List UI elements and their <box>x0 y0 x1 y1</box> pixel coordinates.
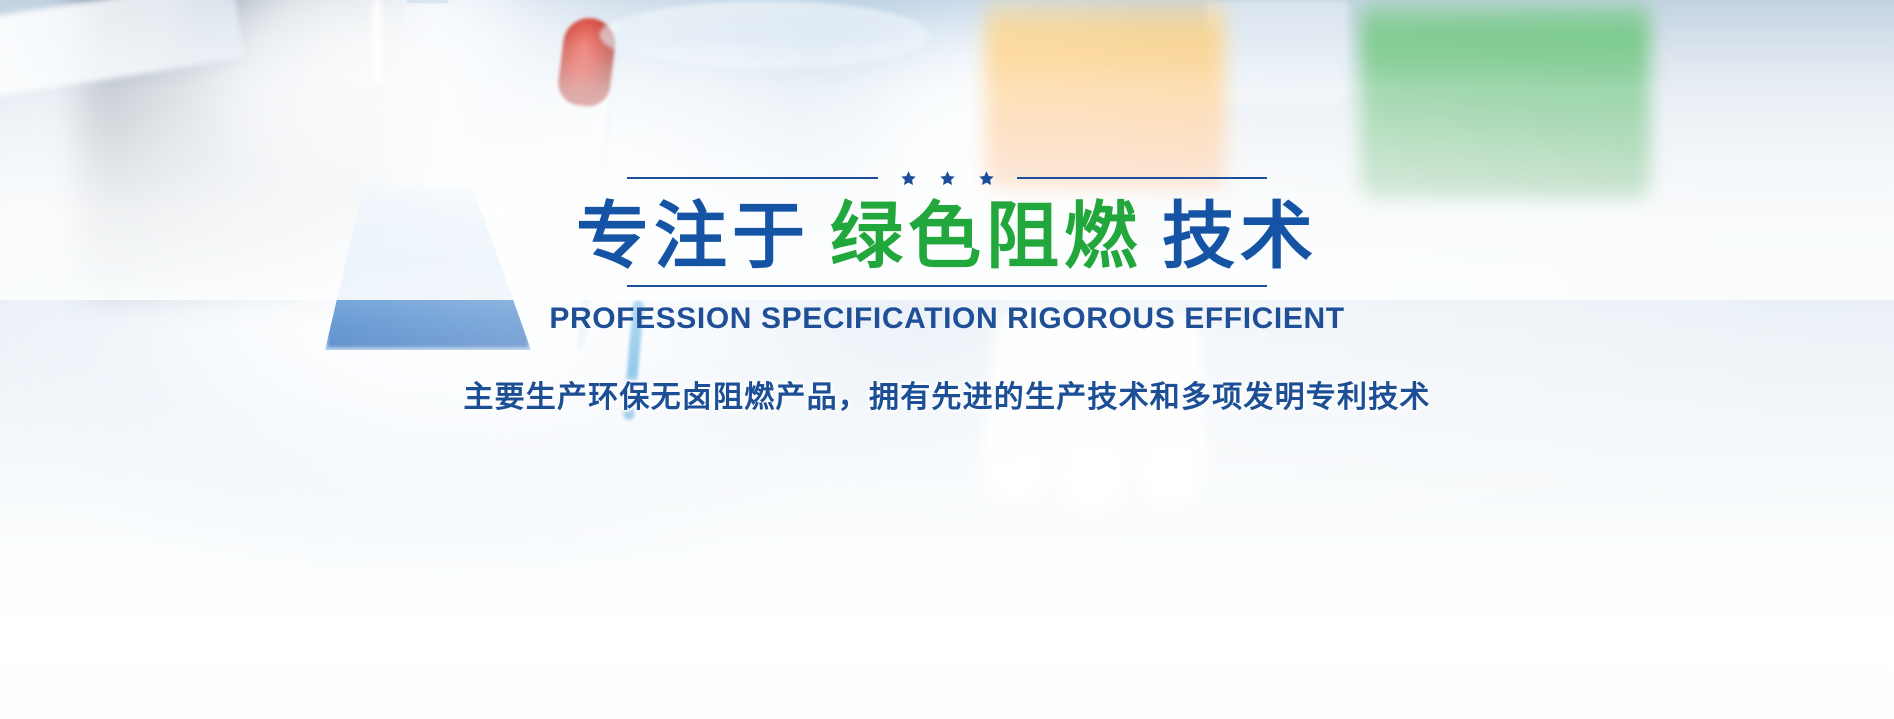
decorative-star-row <box>627 170 1267 186</box>
star-icon <box>939 170 956 187</box>
headline-part-2: 绿色阻燃 <box>830 198 1142 275</box>
star-group <box>900 170 995 187</box>
decorative-rule-right <box>1017 177 1268 179</box>
headline-part-3: 技术 <box>1162 198 1318 275</box>
headline-underline <box>627 285 1267 287</box>
banner-content: 专注于 绿色阻燃 技术 PROFESSION SPECIFICATION RIG… <box>0 0 1894 719</box>
headline-part-1: 专注于 <box>576 198 810 275</box>
banner-headline: 专注于 绿色阻燃 技术 <box>576 198 1318 275</box>
hero-banner: 专注于 绿色阻燃 技术 PROFESSION SPECIFICATION RIG… <box>0 0 1894 719</box>
english-subtitle: PROFESSION SPECIFICATION RIGOROUS EFFICI… <box>549 302 1344 336</box>
banner-tagline: 主要生产环保无卤阻燃产品，拥有先进的生产技术和多项发明专利技术 <box>463 372 1430 416</box>
decorative-rule-left <box>627 177 878 179</box>
star-icon <box>978 170 995 187</box>
star-icon <box>900 170 917 187</box>
